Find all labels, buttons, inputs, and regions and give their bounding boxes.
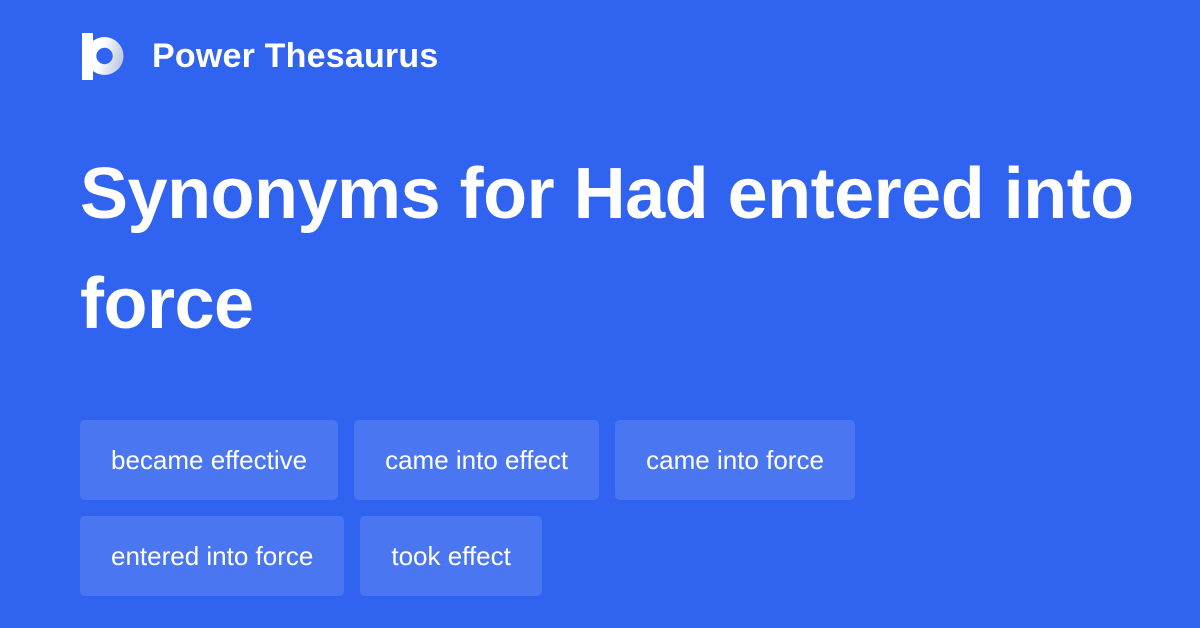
synonym-chip[interactable]: became effective	[80, 420, 338, 500]
brand-header[interactable]: Power Thesaurus	[80, 28, 438, 84]
synonym-chip[interactable]: came into effect	[354, 420, 599, 500]
social-share-card: Power Thesaurus Synonyms for Had entered…	[0, 0, 1200, 628]
synonym-chip[interactable]: entered into force	[80, 516, 344, 596]
synonym-chip[interactable]: took effect	[360, 516, 542, 596]
synonym-chip[interactable]: came into force	[615, 420, 855, 500]
power-thesaurus-b-logo-icon	[80, 30, 130, 82]
synonym-chip-list: became effective came into effect came i…	[80, 420, 1130, 596]
brand-name: Power Thesaurus	[152, 39, 438, 73]
page-title: Synonyms for Had entered into force	[80, 139, 1140, 359]
